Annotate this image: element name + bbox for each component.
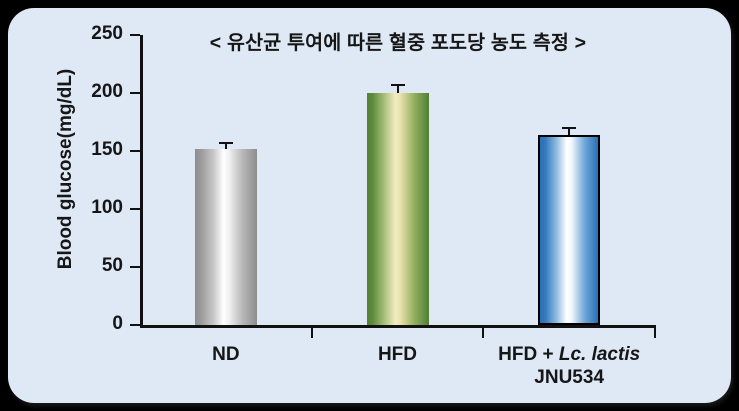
plot-area: 050100150200250 NDHFDHFD + Lc. lactisJNU… [140, 28, 655, 328]
bar-blue [538, 135, 600, 325]
y-tick: 150 [130, 150, 140, 152]
y-tick: 250 [130, 34, 140, 36]
category-label-line2: JNU534 [534, 367, 604, 388]
y-tick-label: 150 [91, 139, 123, 161]
y-tick: 100 [130, 208, 140, 210]
category-label-plain: HFD + [498, 344, 559, 365]
x-axis-separator [311, 325, 313, 338]
screenshot-root: < 유산균 투여에 따른 혈중 포도당 농도 측정 > Blood glucos… [0, 0, 739, 411]
category-label: ND [140, 343, 312, 366]
error-bar [562, 127, 576, 135]
y-tick-label: 50 [102, 255, 123, 277]
y-tick: 50 [130, 266, 140, 268]
x-axis-separator [482, 325, 484, 338]
category-label: HFD + Lc. lactisJNU534 [483, 343, 655, 389]
y-tick-label: 250 [91, 23, 123, 45]
y-tick-label: 0 [112, 313, 123, 335]
y-tick: 0 [130, 324, 140, 326]
category-label-italic: Lc. lactis [559, 344, 640, 365]
chart-card: < 유산균 투여에 따른 혈중 포도당 농도 측정 > Blood glucos… [8, 8, 731, 403]
error-bar-cap [562, 127, 576, 129]
error-bar-cap [219, 142, 233, 144]
error-bar-cap [391, 84, 405, 86]
y-axis-line [140, 35, 143, 327]
bar-green [367, 93, 429, 325]
y-axis-label: Blood glucose(mg/dL) [55, 19, 77, 319]
category-label: HFD [312, 343, 484, 366]
error-bar [391, 84, 405, 93]
y-tick-label: 200 [91, 81, 123, 103]
x-axis-separator [654, 325, 656, 338]
x-axis-line [140, 325, 655, 328]
bar-gray [195, 149, 257, 325]
error-bar [219, 142, 233, 149]
y-tick: 200 [130, 92, 140, 94]
bar-chart: < 유산균 투여에 따른 혈중 포도당 농도 측정 > Blood glucos… [8, 8, 731, 403]
y-tick-label: 100 [91, 197, 123, 219]
